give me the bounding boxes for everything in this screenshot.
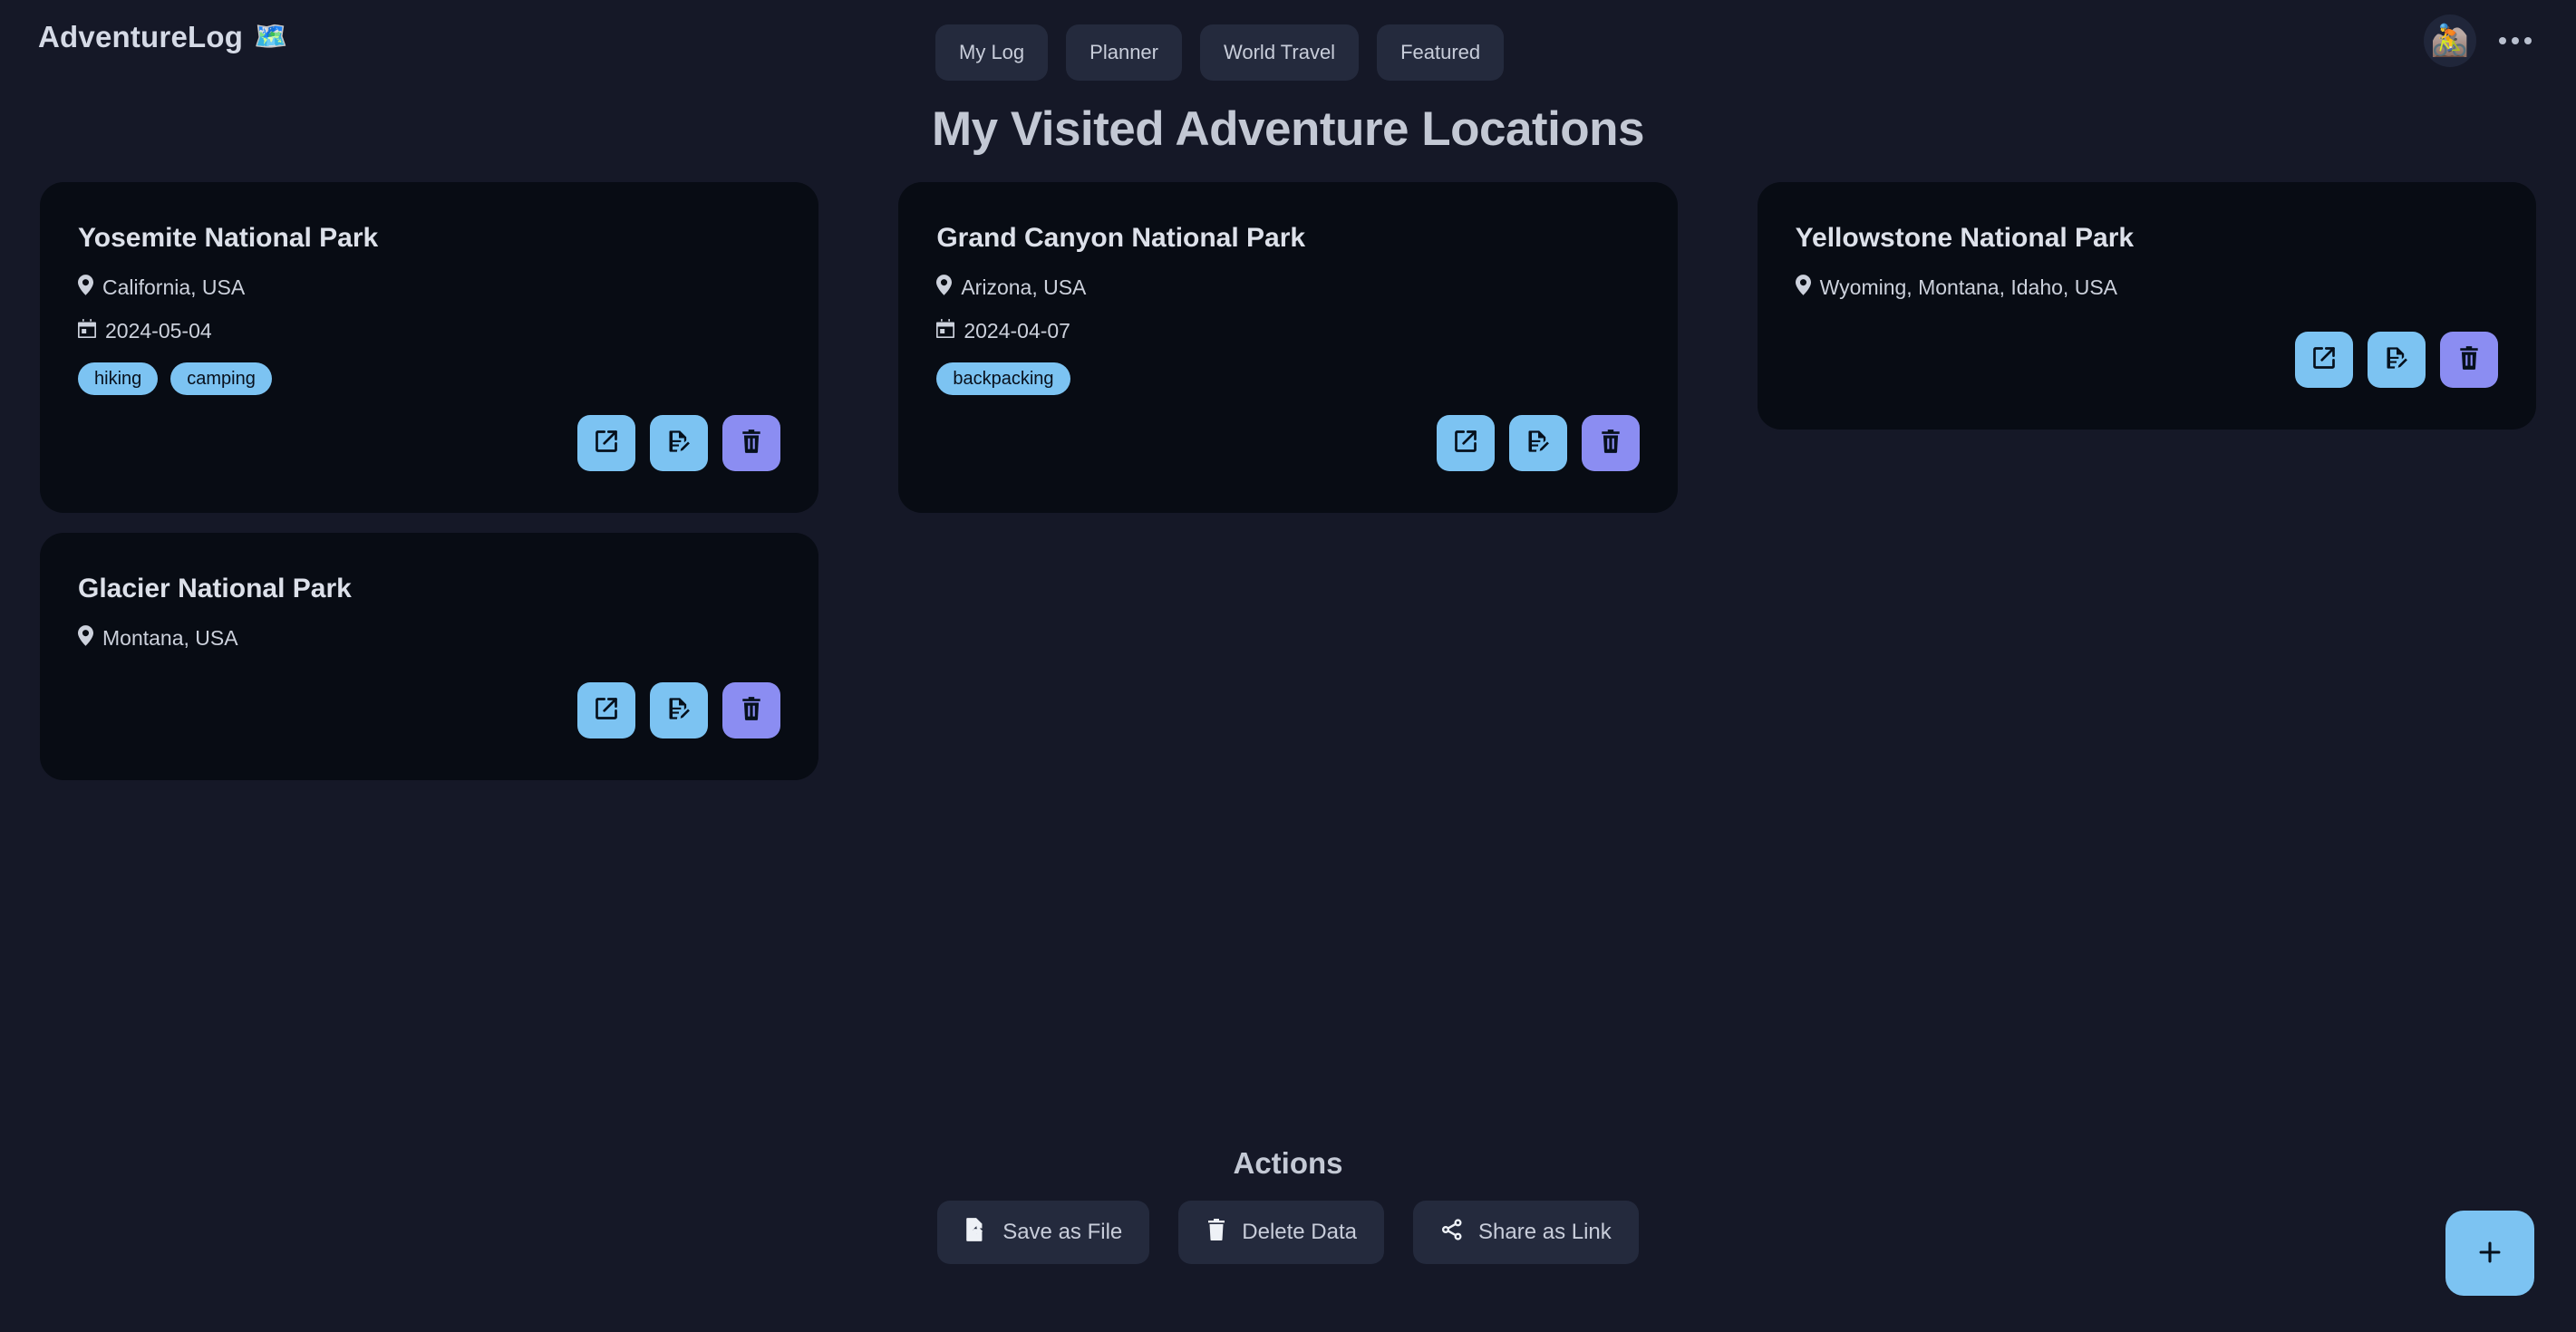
card-title: Glacier National Park	[78, 573, 780, 605]
card-title: Yellowstone National Park	[1796, 222, 2498, 255]
document-edit-icon	[2384, 345, 2409, 373]
trash-icon	[2457, 345, 2481, 373]
card-date-row: 2024-04-07	[936, 319, 1639, 344]
dot-3	[2524, 37, 2532, 44]
card-date-text: 2024-04-07	[964, 319, 1070, 343]
avatar[interactable]: 🚵	[2424, 14, 2476, 67]
map-pin-icon	[936, 275, 952, 301]
dot-1	[2499, 37, 2506, 44]
tag[interactable]: camping	[170, 362, 272, 395]
document-edit-icon	[666, 696, 692, 724]
open-external-button[interactable]	[577, 682, 635, 738]
external-link-icon	[594, 696, 619, 724]
save-as-file-button[interactable]: Save as File	[937, 1201, 1149, 1264]
trash-icon	[1599, 429, 1622, 457]
open-external-button[interactable]	[2295, 332, 2353, 388]
nav-tabs: My Log Planner World Travel Featured	[935, 24, 1504, 81]
grid-column-1: Yosemite National Park California, USA 2…	[40, 182, 818, 780]
location-card[interactable]: Yellowstone National Park Wyoming, Monta…	[1758, 182, 2536, 430]
card-location-text: California, USA	[102, 275, 245, 300]
tab-my-log[interactable]: My Log	[935, 24, 1048, 81]
overflow-menu-button[interactable]	[2487, 13, 2543, 69]
card-location-text: Montana, USA	[102, 626, 238, 651]
card-location-row: Arizona, USA	[936, 275, 1639, 301]
save-as-file-label: Save as File	[1002, 1220, 1122, 1245]
delete-data-button[interactable]: Delete Data	[1178, 1201, 1384, 1264]
external-link-icon	[594, 429, 619, 457]
trash-icon	[740, 429, 763, 457]
card-actions	[936, 415, 1639, 471]
delete-button[interactable]	[1582, 415, 1640, 471]
map-pin-icon	[78, 625, 93, 652]
delete-button[interactable]	[722, 415, 780, 471]
delete-button[interactable]	[722, 682, 780, 738]
card-tags: hiking camping	[78, 362, 780, 395]
locations-grid: Yosemite National Park California, USA 2…	[40, 182, 2536, 780]
external-link-icon	[2311, 345, 2337, 373]
edit-document-button[interactable]	[2368, 332, 2426, 388]
actions-section: Actions Save as File Delete Data Share a…	[0, 1146, 2576, 1264]
open-external-button[interactable]	[577, 415, 635, 471]
tag[interactable]: hiking	[78, 362, 158, 395]
actions-title: Actions	[0, 1146, 2576, 1181]
card-location-text: Arizona, USA	[961, 275, 1086, 300]
document-edit-icon	[666, 429, 692, 457]
edit-document-button[interactable]	[1509, 415, 1567, 471]
edit-document-button[interactable]	[650, 415, 708, 471]
app-brand[interactable]: AdventureLog 🗺️	[38, 20, 288, 54]
plus-icon	[2474, 1237, 2505, 1270]
card-actions	[1796, 332, 2498, 388]
navbar-right-group: 🚵	[2424, 13, 2543, 69]
external-link-icon	[1453, 429, 1478, 457]
tag[interactable]: backpacking	[936, 362, 1070, 395]
trash-icon	[740, 696, 763, 724]
tab-featured[interactable]: Featured	[1377, 24, 1504, 81]
card-location-text: Wyoming, Montana, Idaho, USA	[1820, 275, 2117, 300]
trash-icon	[1206, 1217, 1227, 1249]
top-navbar: AdventureLog 🗺️ My Log Planner World Tra…	[0, 0, 2576, 74]
page-title: My Visited Adventure Locations	[930, 101, 1646, 159]
document-edit-icon	[1525, 429, 1551, 457]
location-card[interactable]: Grand Canyon National Park Arizona, USA …	[898, 182, 1677, 513]
actions-row: Save as File Delete Data Share as Link	[0, 1201, 2576, 1264]
card-title: Grand Canyon National Park	[936, 222, 1639, 255]
map-pin-icon	[1796, 275, 1811, 301]
card-location-row: California, USA	[78, 275, 780, 301]
location-card[interactable]: Glacier National Park Montana, USA	[40, 533, 818, 780]
open-external-button[interactable]	[1437, 415, 1495, 471]
map-pin-icon	[78, 275, 93, 301]
calendar-icon	[936, 319, 954, 344]
card-location-row: Montana, USA	[78, 625, 780, 652]
card-title: Yosemite National Park	[78, 222, 780, 255]
delete-data-label: Delete Data	[1242, 1220, 1357, 1245]
share-icon	[1440, 1218, 1464, 1248]
grid-column-2: Grand Canyon National Park Arizona, USA …	[898, 182, 1677, 513]
brand-name: AdventureLog	[38, 20, 243, 54]
world-map-icon: 🗺️	[254, 24, 288, 51]
grid-column-3: Yellowstone National Park Wyoming, Monta…	[1758, 182, 2536, 430]
dot-2	[2512, 37, 2519, 44]
mountain-biker-icon: 🚵	[2431, 25, 2469, 56]
tab-planner[interactable]: Planner	[1066, 24, 1182, 81]
card-actions	[78, 682, 780, 738]
card-actions	[78, 415, 780, 471]
edit-document-button[interactable]	[650, 682, 708, 738]
card-tags: backpacking	[936, 362, 1639, 395]
location-card[interactable]: Yosemite National Park California, USA 2…	[40, 182, 818, 513]
share-as-link-button[interactable]: Share as Link	[1413, 1201, 1639, 1264]
add-location-fab[interactable]	[2445, 1211, 2534, 1296]
calendar-icon	[78, 319, 96, 344]
file-export-icon	[964, 1217, 988, 1249]
delete-button[interactable]	[2440, 332, 2498, 388]
share-as-link-label: Share as Link	[1478, 1220, 1612, 1245]
card-location-row: Wyoming, Montana, Idaho, USA	[1796, 275, 2498, 301]
card-date-row: 2024-05-04	[78, 319, 780, 344]
card-date-text: 2024-05-04	[105, 319, 212, 343]
tab-world-travel[interactable]: World Travel	[1200, 24, 1359, 81]
